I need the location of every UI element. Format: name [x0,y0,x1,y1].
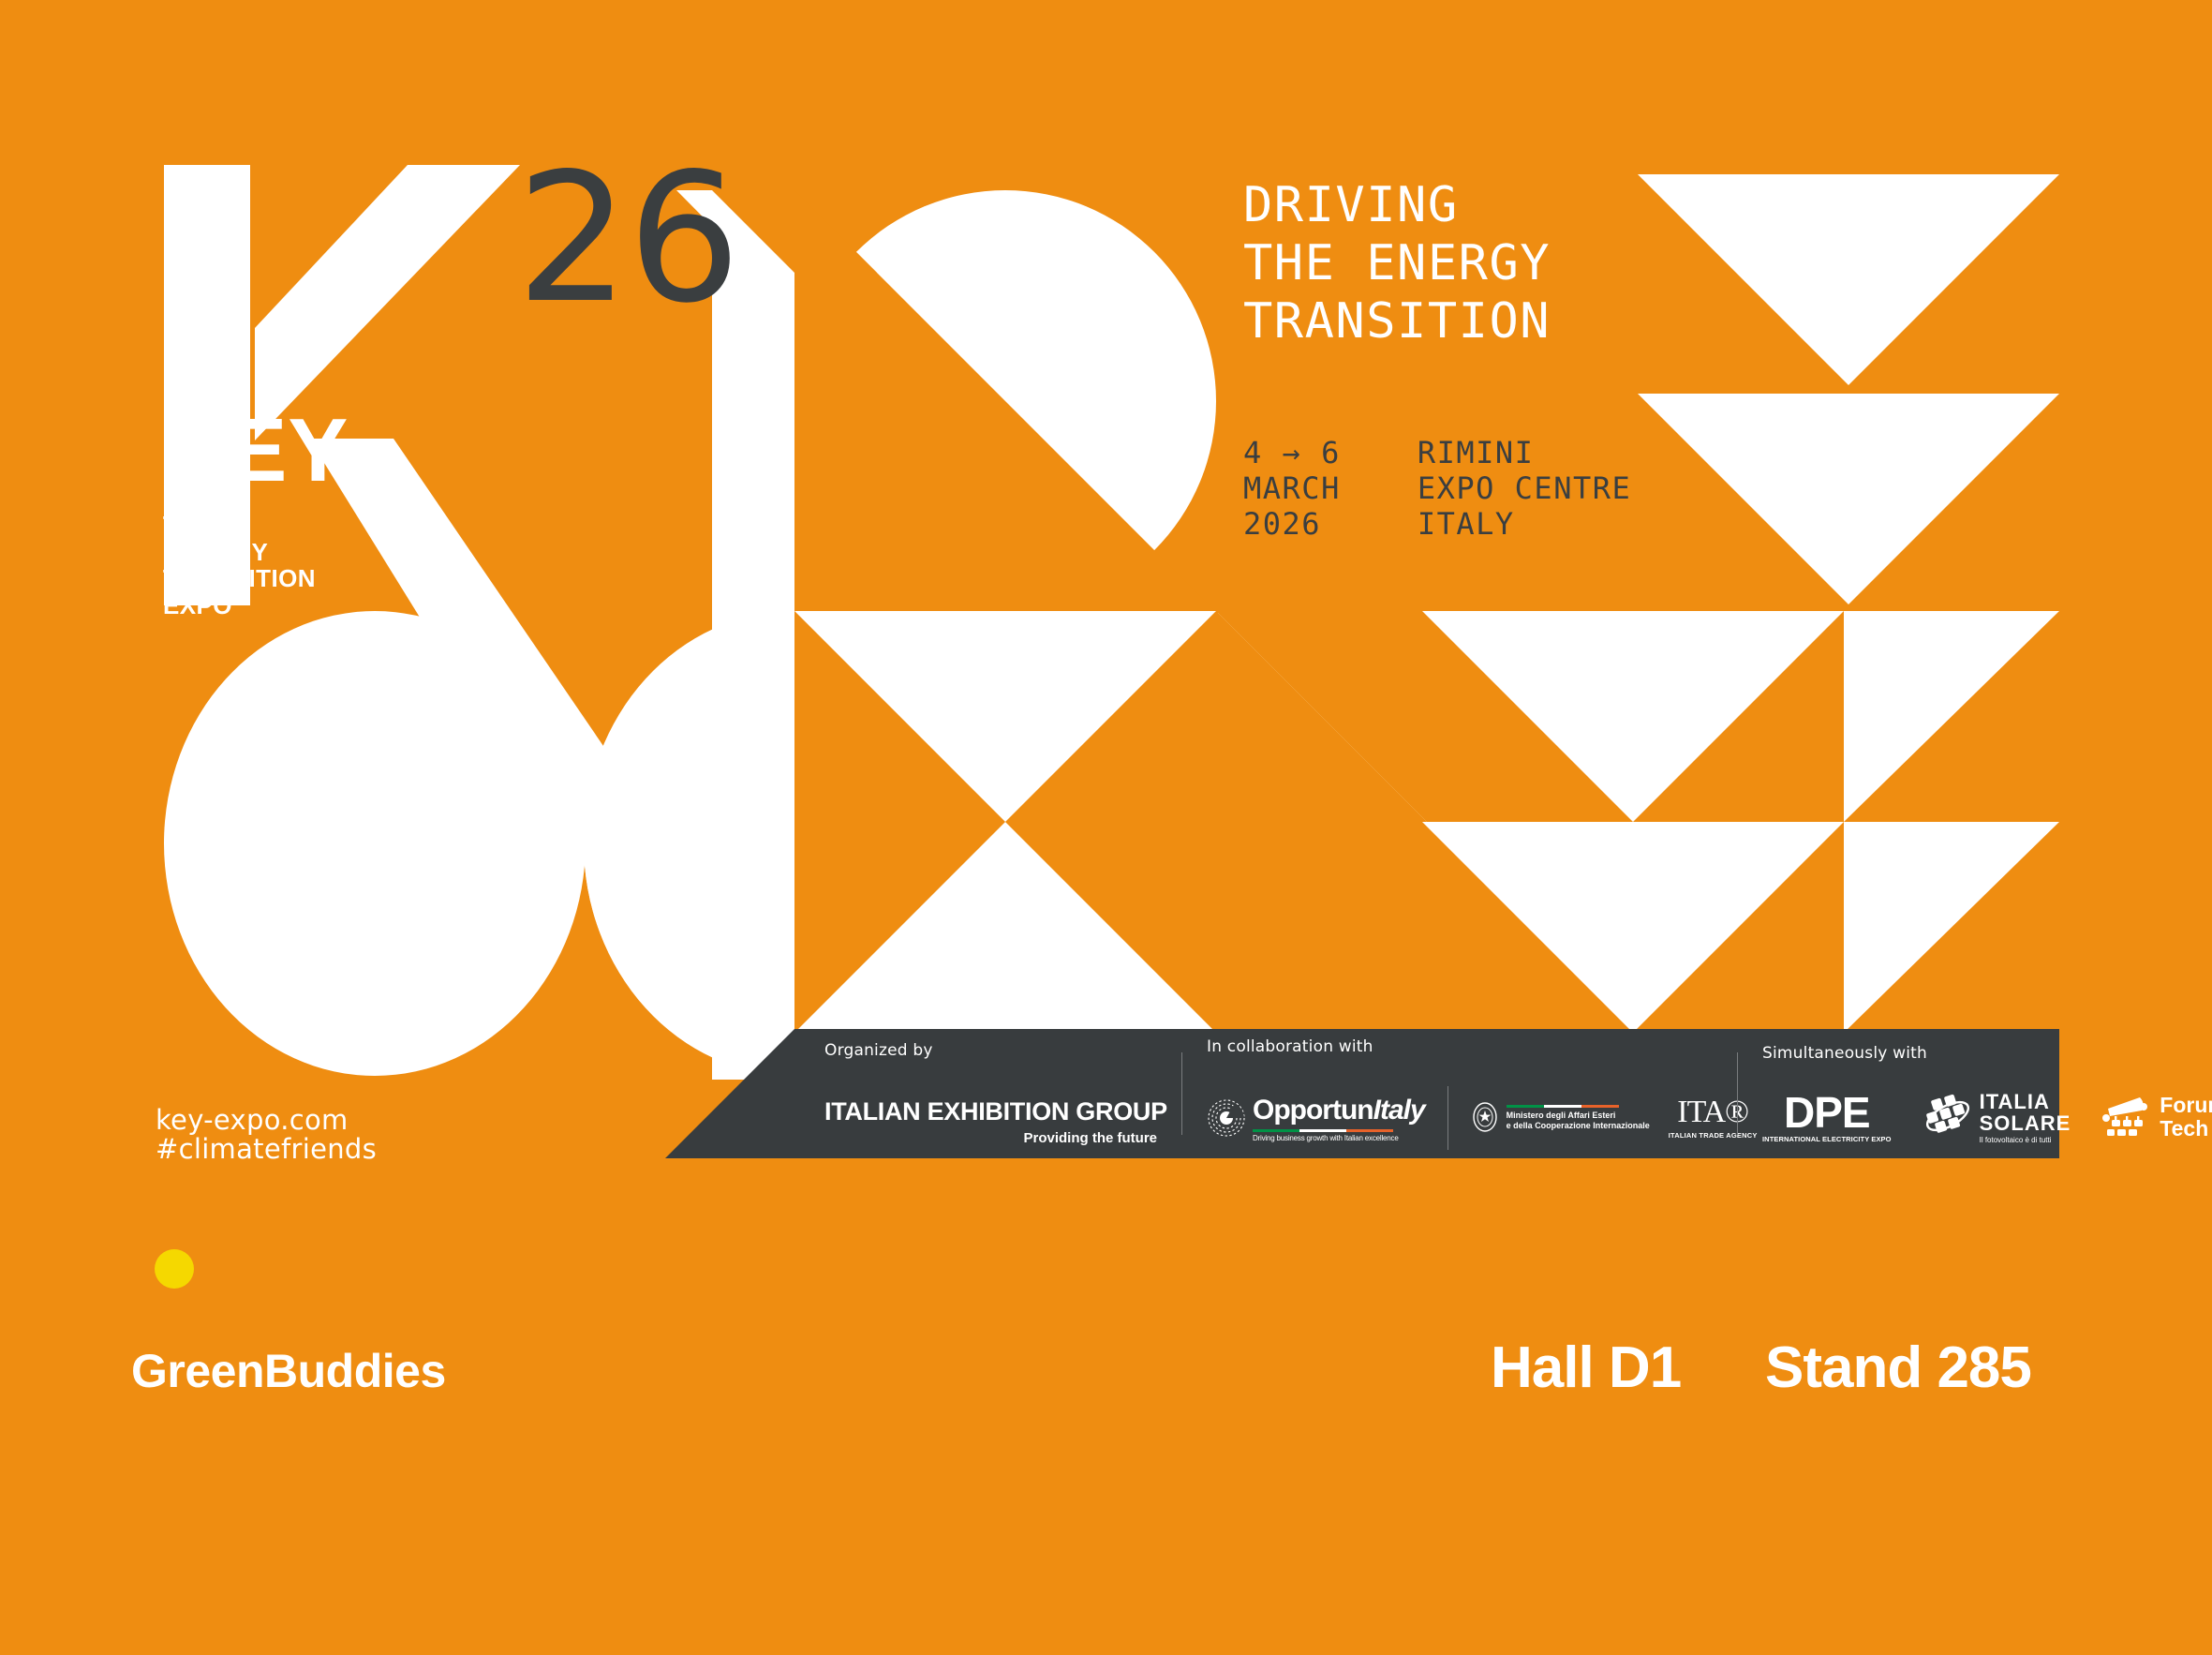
greenbuddies-dot-icon [155,1249,194,1289]
event-venue-line-3: ITALY [1418,506,1631,542]
headline-line-2: THE ENERGY [1243,234,1551,292]
headline-line-1: DRIVING [1243,176,1551,234]
logo-wordmark: KEY [161,410,349,491]
triangle-down-r2-a [1638,394,2059,604]
sponsor-bar-shape [665,1029,2059,1158]
triangle-down-r1-a [1638,174,2059,385]
exhibitor-name: GreenBuddies [131,1344,446,1398]
event-dates: 4 → 6 MARCH 2026 [1243,435,1341,542]
key-logo-lockup: KEY THE ENERGY TRANSITION EXPO [156,165,558,634]
event-date-line-2: MARCH [1243,470,1341,506]
event-venue-line-1: RIMINI [1418,435,1631,470]
logo-tagline-line-3: TRANSITION [163,565,316,592]
hashtag-link[interactable]: #climatefriends [156,1135,377,1164]
logo-tagline-line-1: THE [163,512,316,539]
footer-links: key-expo.com #climatefriends [156,1106,377,1164]
headline-line-3: TRANSITION [1243,292,1551,350]
event-venue: RIMINI EXPO CENTRE ITALY [1418,435,1631,542]
event-date-line-1: 4 → 6 [1243,435,1341,470]
event-date-line-3: 2026 [1243,506,1341,542]
edition-year: 26 [516,150,739,328]
event-venue-line-2: EXPO CENTRE [1418,470,1631,506]
event-info: 4 → 6 MARCH 2026 RIMINI EXPO CENTRE ITAL… [1243,435,1631,542]
website-link[interactable]: key-expo.com [156,1106,377,1135]
headline: DRIVING THE ENERGY TRANSITION [1243,176,1551,350]
logo-tagline: THE ENERGY TRANSITION EXPO [163,512,316,619]
poster-canvas: KEY THE ENERGY TRANSITION EXPO 26 DRIVIN… [0,0,2212,1655]
logo-tagline-line-4: EXPO [163,592,316,619]
logo-tagline-line-2: ENERGY [163,539,316,566]
pattern-white-wedge-b [794,190,877,273]
exhibitor-stand: Stand 285 [1765,1334,2031,1401]
pattern-circle-bottom-left [164,611,586,1076]
exhibitor-hall: Hall D1 [1491,1334,1681,1401]
